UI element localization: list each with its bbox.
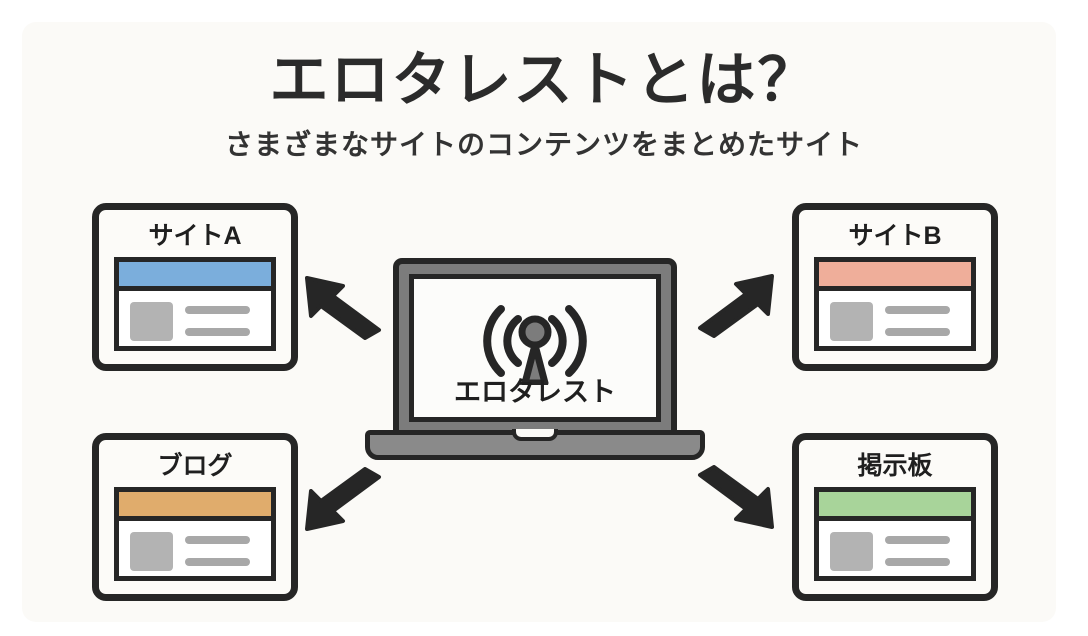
site-card-label: 掲示板	[799, 446, 991, 482]
laptop-illustration: エロタレスト	[365, 258, 705, 473]
browser-content	[819, 291, 971, 346]
laptop-lid: エロタレスト	[393, 258, 677, 436]
browser-accent-bar	[819, 492, 971, 521]
thumbnail-placeholder	[130, 532, 173, 571]
site-card-blog: ブログ	[92, 433, 298, 601]
text-line-placeholder	[885, 328, 950, 336]
text-line-placeholder	[885, 536, 950, 544]
browser-mockup	[114, 257, 276, 351]
arrow-down-left-icon	[303, 467, 383, 540]
page-subtitle: さまざまなサイトのコンテンツをまとめたサイト	[0, 128, 1088, 162]
laptop-trackpad-notch	[512, 429, 558, 441]
site-card-board: 掲示板	[792, 433, 998, 601]
laptop-screen-label: エロタレスト	[414, 370, 656, 409]
browser-accent-bar	[819, 262, 971, 291]
arrow-up-right-icon	[696, 270, 776, 343]
thumbnail-placeholder	[830, 302, 873, 341]
text-line-placeholder	[185, 328, 250, 336]
arrow-down-right-icon	[696, 465, 776, 538]
browser-mockup	[814, 487, 976, 581]
infographic-canvas: エロタレストとは？ さまざまなサイトのコンテンツをまとめたサイト サイトA サイ…	[0, 0, 1088, 636]
laptop-screen: エロタレスト	[409, 274, 661, 422]
site-card-site-b: サイトB	[792, 203, 998, 371]
text-line-placeholder	[885, 558, 950, 566]
thumbnail-placeholder	[830, 532, 873, 571]
browser-content	[819, 521, 971, 576]
browser-accent-bar	[119, 262, 271, 291]
page-title: エロタレストとは？	[0, 48, 1088, 113]
text-line-placeholder	[885, 306, 950, 314]
site-card-label: サイトB	[799, 216, 991, 252]
laptop-base	[365, 430, 705, 460]
browser-content	[119, 521, 271, 576]
site-card-site-a: サイトA	[92, 203, 298, 371]
arrow-up-left-icon	[303, 272, 383, 345]
site-card-label: ブログ	[99, 446, 291, 482]
browser-mockup	[814, 257, 976, 351]
browser-content	[119, 291, 271, 346]
thumbnail-placeholder	[130, 302, 173, 341]
text-line-placeholder	[185, 306, 250, 314]
text-line-placeholder	[185, 558, 250, 566]
text-line-placeholder	[185, 536, 250, 544]
site-card-label: サイトA	[99, 216, 291, 252]
browser-mockup	[114, 487, 276, 581]
browser-accent-bar	[119, 492, 271, 521]
